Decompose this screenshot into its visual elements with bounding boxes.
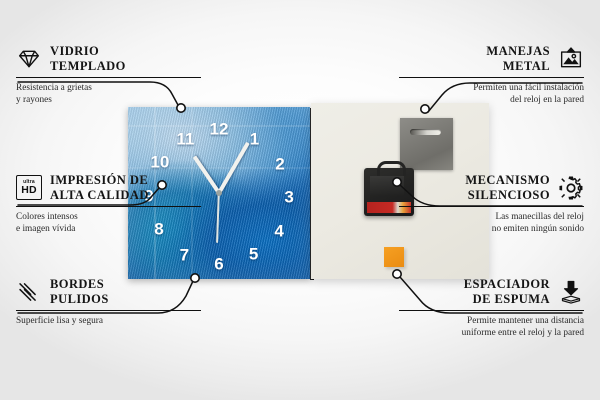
feature-description: Colores intensos e imagen vívida <box>16 211 201 236</box>
clock-numeral-11: 11 <box>176 130 194 147</box>
feature-description: Las manecillas del reloj no emiten ningú… <box>399 211 584 236</box>
feature-divider <box>16 310 201 311</box>
clock-numeral-12: 12 <box>210 121 229 138</box>
feature-title: MECANISMO SILENCIOSO <box>465 173 550 203</box>
infographic-canvas: 12 1 2 3 4 5 6 7 8 9 10 11 <box>0 0 600 400</box>
feature-title: IMPRESIÓN DE ALTA CALIDAD <box>50 173 149 203</box>
feature-bordes-pulidos: BORDES PULIDOS Superficie lisa y segura <box>16 277 201 327</box>
hanging-frame-icon <box>558 46 584 72</box>
feature-description: Permiten una fácil instalación del reloj… <box>399 82 584 107</box>
ultra-hd-icon-main: HD <box>21 185 37 196</box>
feature-description: Permite mantener una distancia uniforme … <box>399 315 584 340</box>
clock-numeral-3: 3 <box>284 189 293 206</box>
feature-title: VIDRIO TEMPLADO <box>50 44 126 74</box>
feature-title: MANEJAS METAL <box>486 44 550 74</box>
feature-manejas-metal: MANEJAS METAL Permiten una fácil instala… <box>399 44 584 107</box>
feature-espaciador-de-espuma: ESPACIADOR DE ESPUMA Permite mantener un… <box>399 277 584 340</box>
feature-divider <box>399 310 584 311</box>
metal-hanger-plate <box>400 118 453 170</box>
feature-mecanismo-silencioso: MECANISMO SILENCIOSO <box>399 173 584 236</box>
diamond-icon <box>16 46 42 72</box>
feature-divider <box>399 206 584 207</box>
feature-impresion-alta-calidad: ultra HD IMPRESIÓN DE ALTA CALIDAD Color… <box>16 173 201 236</box>
gear-icon <box>558 175 584 201</box>
feature-divider <box>399 77 584 78</box>
down-arrow-pad-icon <box>558 279 584 305</box>
clock-numeral-6: 6 <box>214 256 223 273</box>
clock-numeral-2: 2 <box>275 155 284 172</box>
beveled-edge-icon <box>16 279 42 305</box>
feature-description: Superficie lisa y segura <box>16 315 201 327</box>
feature-vidrio-templado: VIDRIO TEMPLADO Resistencia a grietas y … <box>16 44 201 107</box>
feature-divider <box>16 206 201 207</box>
clock-hand-cap <box>216 190 222 196</box>
hanger-keyhole-slot <box>410 129 441 135</box>
feature-description: Resistencia a grietas y rayones <box>16 82 201 107</box>
ultra-hd-icon: ultra HD <box>16 175 42 200</box>
foam-spacer-pad <box>384 247 404 267</box>
feature-title: BORDES PULIDOS <box>50 277 109 307</box>
feature-title: ESPACIADOR DE ESPUMA <box>464 277 550 307</box>
clock-numeral-7: 7 <box>180 246 189 263</box>
clock-numeral-4: 4 <box>274 222 283 239</box>
clock-numeral-5: 5 <box>249 246 258 263</box>
clock-numeral-1: 1 <box>250 130 259 147</box>
clock-numeral-10: 10 <box>150 154 169 171</box>
feature-divider <box>16 77 201 78</box>
